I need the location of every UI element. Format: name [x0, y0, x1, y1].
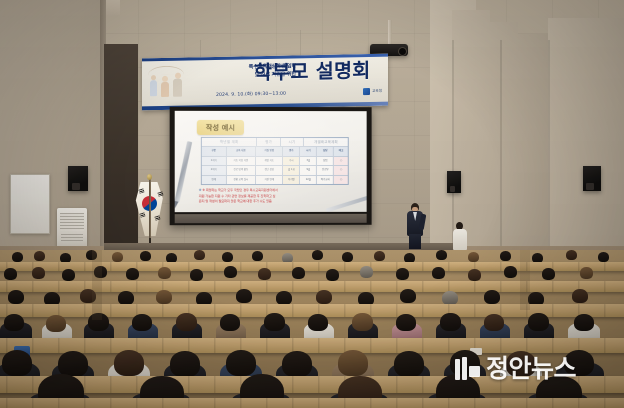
table-cell: 개별 지도 — [256, 157, 283, 165]
seat-row — [0, 338, 624, 353]
audience-member — [276, 291, 292, 305]
slide-pen-graphic — [175, 141, 192, 203]
audience-member — [292, 267, 305, 279]
audience-member — [194, 250, 205, 260]
table-row: 1학기 기초 학습 지원 개별 지도 수시 3월 담임 ○ — [202, 157, 348, 166]
table-cell: 전환 교육 실시 — [227, 176, 257, 184]
audience-member — [500, 251, 511, 261]
staff-member — [452, 222, 468, 250]
table-col-head: 시기 — [281, 138, 304, 146]
ac-label — [61, 234, 83, 242]
audience-member — [46, 315, 66, 332]
banner-figure — [173, 79, 182, 97]
audience-member — [580, 267, 593, 279]
whiteboard — [10, 174, 50, 234]
banner-org-logo: 교육청 — [363, 88, 382, 95]
table-col-head: 담당 — [317, 147, 334, 155]
audience-member — [572, 289, 588, 303]
audience-member — [4, 268, 17, 280]
audience-member — [396, 314, 416, 331]
seat-row — [0, 398, 624, 408]
audience-member — [440, 313, 461, 331]
staff-body — [453, 229, 467, 250]
audience-member — [506, 351, 536, 377]
table-cell: ○ — [334, 166, 347, 174]
audience-member — [118, 291, 134, 305]
audience-member — [132, 314, 152, 331]
screen-surface: 작성 예시 학년별 계획 평가 시기 개별화교육계획 구분 교육 내용 지원 방… — [175, 111, 367, 212]
audience-member — [396, 268, 409, 280]
projector-mount-pole — [388, 20, 392, 46]
audience-member — [394, 351, 424, 377]
audience-member — [316, 290, 332, 304]
audience-member — [236, 289, 252, 303]
seat-row — [0, 376, 624, 393]
audience-member — [504, 266, 517, 278]
table-col-head: 지원 방법 — [256, 147, 283, 155]
table-row: 2학기 진로 탐색 활동 집단 상담 월 1회 9월 진로부 ○ — [202, 166, 348, 175]
audience-member — [450, 350, 480, 376]
ac-grille — [60, 213, 84, 231]
table-cell: 월 1회 — [283, 166, 300, 174]
audience-member — [112, 252, 123, 262]
audience-member — [360, 266, 373, 278]
auditorium-photo: 특수교육대상학생 입학 및 진로 지원을 위한 학부모 설명회 2024. 9.… — [0, 0, 624, 408]
table-title: 학년별 계획 — [202, 138, 258, 146]
audience-member — [342, 252, 353, 262]
audience-member — [126, 268, 139, 280]
audience-member — [222, 252, 233, 262]
audience-member — [312, 250, 323, 260]
audience-member — [468, 269, 481, 281]
audience-member — [564, 350, 594, 376]
org-logo-label: 교육청 — [372, 89, 382, 94]
audience-member — [338, 350, 368, 376]
right-wall-plane-d — [500, 34, 548, 262]
table-subtitle: 개별화교육계획 — [304, 138, 348, 146]
wall-seam — [548, 40, 550, 262]
audience-member — [62, 269, 75, 281]
table-row: 연계 전환 교육 실시 기관 연계 학기별 12월 특수교사 ○ — [202, 176, 348, 184]
audience-member — [156, 290, 172, 304]
table-cell: 기초 학습 지원 — [227, 157, 257, 165]
audience-member — [282, 351, 312, 377]
table-title-row: 학년별 계획 평가 시기 개별화교육계획 — [202, 138, 348, 148]
air-conditioner — [57, 208, 87, 250]
wall-speaker-right-1 — [447, 171, 461, 193]
banner-illustration — [146, 63, 188, 104]
table-cell: ○ — [334, 157, 347, 165]
audience-member — [352, 313, 373, 331]
audience-member — [34, 251, 45, 261]
seat-dividers — [0, 376, 624, 393]
audience-member — [574, 314, 594, 331]
table-cell: 담임 — [317, 157, 334, 165]
audience-member — [8, 290, 24, 304]
table-cell: 학기별 — [283, 176, 300, 184]
slide-badge: 작성 예시 — [197, 120, 244, 135]
table-col-head: 비고 — [334, 147, 347, 155]
table-cell: 진로부 — [317, 166, 334, 174]
wall-speaker-left — [68, 166, 88, 191]
audience-member — [158, 267, 171, 279]
table-cell: 특수교사 — [317, 176, 334, 184]
projector-lens-icon — [398, 47, 407, 56]
audience-member — [264, 313, 285, 331]
table-cell: 기관 연계 — [256, 176, 283, 184]
presenter-legs — [409, 234, 421, 249]
aisle — [520, 250, 530, 310]
audience-member — [170, 351, 200, 377]
table-cell: ○ — [334, 176, 347, 184]
audience-seating-area — [0, 250, 624, 408]
audience-member — [4, 314, 24, 331]
audience-member — [542, 268, 555, 280]
projection-screen: 작성 예시 학년별 계획 평가 시기 개별화교육계획 구분 교육 내용 지원 방… — [170, 107, 372, 225]
banner-figure — [150, 80, 157, 96]
table-cell: 12월 — [300, 176, 317, 184]
audience-member — [258, 268, 271, 280]
table-cell: 3월 — [300, 157, 317, 165]
presenter — [404, 203, 426, 249]
audience-member — [528, 313, 549, 331]
audience-member — [598, 252, 609, 262]
audience-member — [176, 313, 197, 331]
event-banner: 특수교육대상학생 입학 및 진로 지원을 위한 학부모 설명회 2024. 9.… — [142, 54, 388, 111]
audience-member — [220, 314, 240, 331]
table-col-head: 평가 — [283, 147, 300, 155]
slide-notes: ※ ※ 희망하는 학교가 모두 국립인 경우 특수교육지원센터에서 지원 가능한… — [199, 188, 351, 205]
table-col-head: 시기 — [300, 147, 317, 155]
slide-table: 학년별 계획 평가 시기 개별화교육계획 구분 교육 내용 지원 방법 평가 시… — [201, 137, 349, 185]
audience-member — [374, 251, 385, 261]
audience-member — [468, 252, 479, 262]
audience-member — [400, 289, 416, 303]
org-logo-mark-icon — [363, 88, 370, 95]
table-col-head: 평가 — [257, 138, 280, 146]
audience-member — [436, 250, 447, 260]
audience-member — [308, 314, 328, 331]
slide-note-line: 은지 및 작성이 필요하지 않은 학교에 대한 추가 수도 있음 — [199, 199, 351, 205]
flag-finial — [147, 174, 152, 180]
audience-member — [484, 314, 504, 331]
audience-member — [12, 252, 23, 262]
table-cell: 연계 — [202, 176, 227, 184]
banner-figure-head — [162, 76, 168, 82]
wall-seam — [500, 40, 502, 262]
screen-bottom-bar — [175, 214, 367, 223]
banner-title: 학부모 설명회 — [254, 60, 371, 84]
table-header-row: 구분 교육 내용 지원 방법 평가 시기 담당 비고 — [202, 147, 348, 156]
aisle — [92, 250, 102, 320]
audience-member — [432, 267, 445, 279]
seat-dividers — [0, 338, 624, 353]
table-cell: 9월 — [300, 166, 317, 174]
banner-date: 2024. 9. 10.(화) 09:30~13:00 — [216, 91, 286, 98]
banner-figure — [161, 82, 169, 97]
audience-member — [566, 250, 577, 260]
table-cell: 2학기 — [202, 166, 227, 174]
banner-figure-head — [175, 73, 181, 79]
audience-member — [442, 291, 458, 305]
table-cell: 수시 — [283, 157, 300, 165]
table-cell: 1학기 — [202, 157, 227, 165]
audience-member — [32, 267, 45, 279]
table-cell: 집단 상담 — [256, 166, 283, 174]
table-col-head: 교육 내용 — [227, 147, 257, 155]
right-wall-plane-e — [548, 18, 624, 262]
audience-member — [224, 266, 237, 278]
seat-dividers — [0, 398, 624, 408]
audience-member — [326, 269, 339, 281]
audience-member — [226, 350, 256, 376]
audience-member — [190, 269, 203, 281]
table-cell: 진로 탐색 활동 — [227, 166, 257, 174]
wall-speaker-right-2 — [583, 166, 601, 191]
audience-member — [140, 251, 151, 261]
side-doorway-recess — [104, 44, 138, 262]
audience-member — [484, 290, 500, 304]
flag-pole — [149, 178, 151, 238]
audience-member — [114, 350, 144, 376]
table-col-head: 구분 — [202, 147, 227, 155]
audience-member — [252, 251, 263, 261]
audience-member — [2, 350, 32, 376]
